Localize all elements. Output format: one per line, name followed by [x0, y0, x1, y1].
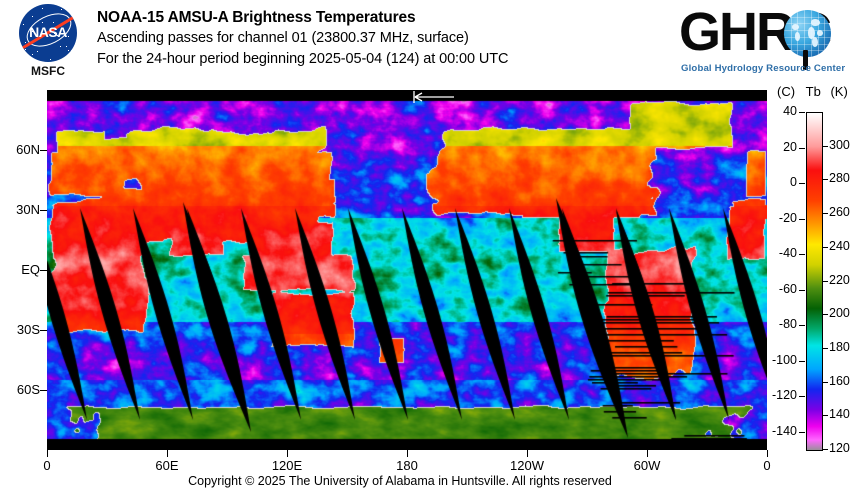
colorbar-celsius-tick	[799, 325, 805, 326]
colorbar-kelvin-label: 280	[829, 171, 850, 185]
colorbar-kelvin-tick	[822, 146, 828, 147]
latitude-label: 30S	[0, 322, 40, 337]
colorbar-header: (C) Tb (K)	[777, 84, 853, 99]
map-raster	[47, 90, 767, 450]
title-block: NOAA-15 AMSU-A Brightness Temperatures A…	[97, 8, 508, 70]
longitude-tick	[527, 450, 528, 457]
longitude-label: 120E	[265, 458, 309, 473]
longitude-tick	[167, 450, 168, 457]
colorbar-gradient	[807, 113, 822, 450]
latitude-label: 30N	[0, 202, 40, 217]
colorbar-variable: Tb	[806, 84, 821, 99]
colorbar-kelvin-label: 200	[829, 306, 850, 320]
longitude-tick	[767, 450, 768, 457]
latitude-label: 60N	[0, 142, 40, 157]
brightness-temperature-map[interactable]	[47, 90, 767, 450]
colorbar-kelvin-tick	[822, 281, 828, 282]
colorbar-kelvin-tick	[822, 415, 828, 416]
colorbar-celsius-label: -140	[767, 424, 797, 438]
colorbar-kelvin-tick	[822, 348, 828, 349]
colorbar-kelvin-label: 120	[829, 441, 850, 455]
colorbar-celsius-tick	[799, 432, 805, 433]
colorbar-kelvin-label: 220	[829, 273, 850, 287]
latitude-tick	[40, 150, 47, 151]
colorbar-celsius-label: 40	[767, 104, 797, 118]
colorbar-celsius-tick	[799, 361, 805, 362]
colorbar-celsius-tick	[799, 290, 805, 291]
longitude-label: 60W	[625, 458, 669, 473]
longitude-tick	[647, 450, 648, 457]
longitude-label: 0	[745, 458, 789, 473]
colorbar-celsius-label: -120	[767, 388, 797, 402]
colorbar-kelvin-label: 180	[829, 340, 850, 354]
nasa-center-label: MSFC	[10, 64, 86, 78]
latitude-tick	[40, 270, 47, 271]
colorbar-unit-kelvin: (K)	[830, 84, 847, 99]
colorbar-kelvin-tick	[822, 449, 828, 450]
colorbar-kelvin-tick	[822, 179, 828, 180]
nasa-logo: NASA MSFC	[10, 4, 84, 82]
colorbar-kelvin-label: 300	[829, 138, 850, 152]
colorbar-kelvin-label: 160	[829, 374, 850, 388]
latitude-tick	[40, 390, 47, 391]
colorbar-celsius-tick	[799, 112, 805, 113]
colorbar-celsius-tick	[799, 183, 805, 184]
colorbar-celsius-tick	[799, 148, 805, 149]
colorbar-kelvin-label: 240	[829, 239, 850, 253]
header: NASA MSFC NOAA-15 AMSU-A Brightness Temp…	[0, 0, 854, 88]
colorbar-unit-celsius: (C)	[777, 84, 795, 99]
colorbar-celsius-label: -60	[767, 282, 797, 296]
longitude-tick	[47, 450, 48, 457]
longitude-label: 180	[385, 458, 429, 473]
page-title: NOAA-15 AMSU-A Brightness Temperatures	[97, 8, 508, 28]
colorbar-celsius-label: -20	[767, 211, 797, 225]
colorbar-celsius-label: -100	[767, 353, 797, 367]
longitude-label: 0	[25, 458, 69, 473]
colorbar-celsius-label: 20	[767, 140, 797, 154]
colorbar-celsius-label: -40	[767, 246, 797, 260]
longitude-tick	[287, 450, 288, 457]
colorbar	[806, 112, 823, 451]
copyright-notice: Copyright © 2025 The University of Alaba…	[0, 474, 800, 488]
ghrc-tagline: Global Hydrology Resource Center	[681, 63, 844, 74]
nasa-meatball-icon: NASA	[19, 4, 77, 62]
latitude-label: 60S	[0, 382, 40, 397]
latitude-tick	[40, 330, 47, 331]
colorbar-kelvin-tick	[822, 213, 828, 214]
colorbar-kelvin-label: 260	[829, 205, 850, 219]
longitude-label: 60E	[145, 458, 189, 473]
longitude-label: 120W	[505, 458, 549, 473]
colorbar-kelvin-tick	[822, 314, 828, 315]
ghrc-logo: GHRC Global Hydrology Resource Center	[679, 4, 845, 80]
subtitle-period: For the 24-hour period beginning 2025-05…	[97, 49, 508, 70]
colorbar-celsius-tick	[799, 396, 805, 397]
latitude-label: EQ	[0, 262, 40, 277]
colorbar-celsius-tick	[799, 254, 805, 255]
colorbar-kelvin-tick	[822, 247, 828, 248]
colorbar-kelvin-tick	[822, 382, 828, 383]
colorbar-celsius-label: 0	[767, 175, 797, 189]
left-arrow-marker-icon	[412, 91, 456, 104]
subtitle-channel: Ascending passes for channel 01 (23800.3…	[97, 28, 508, 49]
latitude-tick	[40, 210, 47, 211]
nasa-wordmark: NASA	[19, 24, 77, 40]
colorbar-celsius-tick	[799, 219, 805, 220]
colorbar-celsius-label: -80	[767, 317, 797, 331]
colorbar-kelvin-label: 140	[829, 407, 850, 421]
longitude-tick	[407, 450, 408, 457]
